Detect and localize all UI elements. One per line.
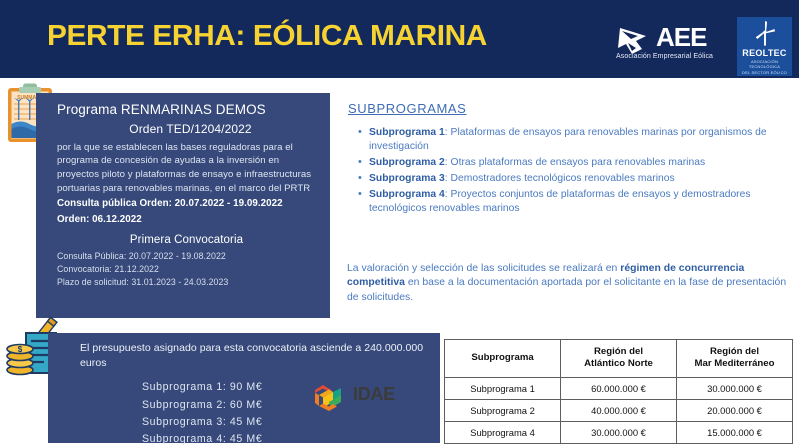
subprograma-text: : Otras plataformas de ensayos para reno… (445, 157, 705, 168)
idae-logo: IDAE (309, 381, 409, 415)
idae-wordmark: IDAE (353, 385, 395, 403)
column-header-subprograma: Subprograma (445, 340, 561, 378)
convocatoria-line-1: Consulta Pública: 20.07.2022 - 19.08.202… (57, 250, 316, 263)
list-item: Subprograma 4: Proyectos conjuntos de pl… (356, 188, 788, 215)
column-header-mediterraneo-line1: Región del (679, 346, 790, 358)
slide-root: PERTE ERHA: EÓLICA MARINA AEE Asociación… (0, 0, 799, 448)
convocatoria-dates: Consulta Pública: 20.07.2022 - 19.08.202… (57, 250, 316, 290)
consulta-publica-dates: Consulta pública Orden: 20.07.2022 - 19.… (57, 197, 316, 210)
column-header-atlantico: Región del Atlántico Norte (561, 340, 677, 378)
column-header-mediterraneo-line2: Mar Mediterráneo (679, 358, 790, 370)
wind-turbine-icon (752, 20, 778, 47)
cell-atlantico: 40.000.000 € (561, 399, 677, 421)
column-header-atlantico-line1: Región del (563, 346, 674, 358)
cell-subprograma: Subprograma 4 (445, 421, 561, 443)
column-header-mediterraneo: Región del Mar Mediterráneo (677, 340, 793, 378)
cell-subprograma: Subprograma 1 (445, 377, 561, 399)
subprograma-label: Subprograma 4 (369, 189, 445, 200)
convocatoria-heading: Primera Convocatoria (57, 234, 316, 246)
cell-atlantico: 30.000.000 € (561, 421, 677, 443)
cell-atlantico: 60.000.000 € (561, 377, 677, 399)
valoracion-part2: en base a la documentación aportada por … (347, 277, 786, 302)
cell-mediterraneo: 15.000.000 € (677, 421, 793, 443)
budget-region-table-wrapper: Subprograma Región del Atlántico Norte R… (444, 339, 792, 444)
page-title: PERTE ERHA: EÓLICA MARINA (47, 20, 487, 53)
budget-region-table: Subprograma Región del Atlántico Norte R… (444, 339, 793, 444)
list-item: Subprograma 3: 45 M€ (142, 414, 430, 431)
program-description: por la que se establecen las bases regul… (57, 141, 316, 195)
program-title: Programa RENMARINAS DEMOS (57, 102, 316, 119)
list-item: Subprograma 1: Plataformas de ensayos pa… (356, 126, 788, 153)
subprograma-label: Subprograma 1 (369, 127, 445, 138)
list-item: Subprograma 3: Demostradores tecnológico… (356, 172, 788, 186)
cell-mediterraneo: 20.000.000 € (677, 399, 793, 421)
left-info-panel: Programa RENMARINAS DEMOS Orden TED/1204… (36, 93, 330, 318)
aee-logo: AEE Asociación Empresarial Eólica (616, 22, 726, 68)
table-row: Subprograma 2 40.000.000 € 20.000.000 € (445, 399, 793, 421)
table-header-row: Subprograma Región del Atlántico Norte R… (445, 340, 793, 378)
cell-mediterraneo: 30.000.000 € (677, 377, 793, 399)
list-item: Subprograma 4: 45 M€ (142, 431, 430, 448)
valoracion-paragraph: La valoración y selección de las solicit… (347, 262, 787, 305)
subprograma-label: Subprograma 3 (369, 173, 445, 184)
valoracion-part1: La valoración y selección de las solicit… (347, 263, 620, 274)
subprogramas-heading: SUBPROGRAMAS (348, 101, 466, 116)
cell-subprograma: Subprograma 2 (445, 399, 561, 421)
orden-date: Orden: 06.12.2022 (57, 213, 316, 226)
program-order-number: Orden TED/1204/2022 (57, 122, 316, 136)
svg-text:$: $ (18, 345, 23, 354)
subprograma-text: : Demostradores tecnológicos renovables … (445, 173, 675, 184)
aee-wordmark: AEE (656, 24, 706, 50)
list-item: Subprograma 2: Otras plataformas de ensa… (356, 156, 788, 170)
reoltec-wordmark: REOLTEC (742, 48, 786, 58)
table-row: Subprograma 4 30.000.000 € 15.000.000 € (445, 421, 793, 443)
convocatoria-line-3: Plazo de solicitud: 31.01.2023 - 24.03.2… (57, 276, 316, 289)
table-row: Subprograma 1 60.000.000 € 30.000.000 € (445, 377, 793, 399)
header-band: PERTE ERHA: EÓLICA MARINA AEE Asociación… (0, 0, 799, 78)
reoltec-tagline-line3: DEL SECTOR EÓLICO (742, 70, 787, 76)
subprograma-label: Subprograma 2 (369, 157, 445, 168)
subprogramas-list: Subprograma 1: Plataformas de ensayos pa… (356, 126, 788, 218)
reoltec-logo: REOLTEC ASOCIACIÓN TECNOLÓGICA DEL SECTO… (737, 17, 792, 76)
reoltec-tagline: ASOCIACIÓN TECNOLÓGICA DEL SECTOR EÓLICO (742, 59, 787, 76)
idae-mark-icon (309, 381, 349, 415)
budget-lead-text: El presupuesto asignado para esta convoc… (80, 341, 430, 371)
column-header-atlantico-line2: Atlántico Norte (563, 358, 674, 370)
aee-tagline: Asociación Empresarial Eólica (616, 53, 713, 60)
convocatoria-line-2: Convocatoria: 21.12.2022 (57, 263, 316, 276)
